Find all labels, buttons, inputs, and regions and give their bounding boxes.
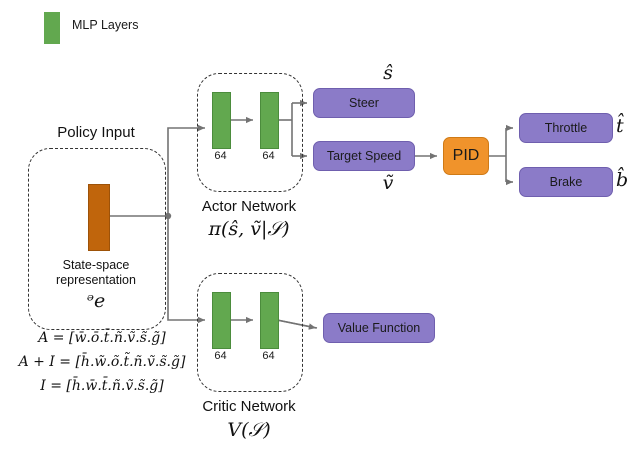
critic-mlp-layer-1-label: 64: [205, 350, 236, 362]
critic-network-value-math: V(𝒮): [182, 419, 316, 441]
diagram-canvas: MLP Layers Policy Input State-space repr…: [0, 0, 640, 458]
value-function-output-box[interactable]: Value Function: [323, 313, 435, 343]
pid-controller-box[interactable]: PID: [443, 137, 489, 175]
state-space-description: State-space representation: [36, 258, 156, 288]
state-space-description-line2: representation: [36, 273, 156, 288]
target-speed-output-box[interactable]: Target Speed: [313, 141, 415, 171]
throttle-output-box[interactable]: Throttle: [519, 113, 613, 143]
legend-swatch-mlp: [44, 12, 60, 44]
state-space-symbol: ᵊe: [36, 290, 156, 312]
critic-mlp-layer-2-label: 64: [253, 350, 284, 362]
brake-output-box[interactable]: Brake: [519, 167, 613, 197]
legend-label-mlp: MLP Layers: [72, 18, 138, 32]
critic-network-caption: Critic Network: [182, 398, 316, 415]
critic-mlp-layer-1: [212, 292, 231, 349]
equation-i: I = [h̄.w̄.t̄.ñ.ṽ.s̃.g̃]: [4, 378, 200, 394]
actor-mlp-layer-1: [212, 92, 231, 149]
actor-network-caption: Actor Network: [182, 198, 316, 215]
equation-a: A = [w̄.ō.t̄.ñ.ṽ.s̃.g̃]: [4, 330, 200, 346]
actor-mlp-layer-2-label: 64: [253, 150, 284, 162]
equation-a-plus-i: A + I = [h̄.w̃.õ.t̃.ñ.ṽ.s̃.g̃]: [4, 354, 200, 370]
steer-output-box[interactable]: Steer: [313, 88, 415, 118]
state-space-block: [88, 184, 110, 251]
actor-network-policy-math: π(ŝ, ṽ|𝒮): [182, 218, 316, 240]
critic-mlp-layer-2: [260, 292, 279, 349]
brake-output-symbol: b̂: [616, 169, 638, 191]
target-speed-output-symbol: ṽ: [375, 172, 401, 194]
policy-input-caption: Policy Input: [28, 124, 164, 141]
actor-mlp-layer-1-label: 64: [205, 150, 236, 162]
state-space-description-line1: State-space: [36, 258, 156, 273]
state-space-equations: A = [w̄.ō.t̄.ñ.ṽ.s̃.g̃] A + I = [h̄.w̃.õ…: [4, 330, 200, 402]
actor-mlp-layer-2: [260, 92, 279, 149]
steer-output-symbol: ŝ: [375, 62, 401, 84]
throttle-output-symbol: t̂: [616, 115, 638, 137]
